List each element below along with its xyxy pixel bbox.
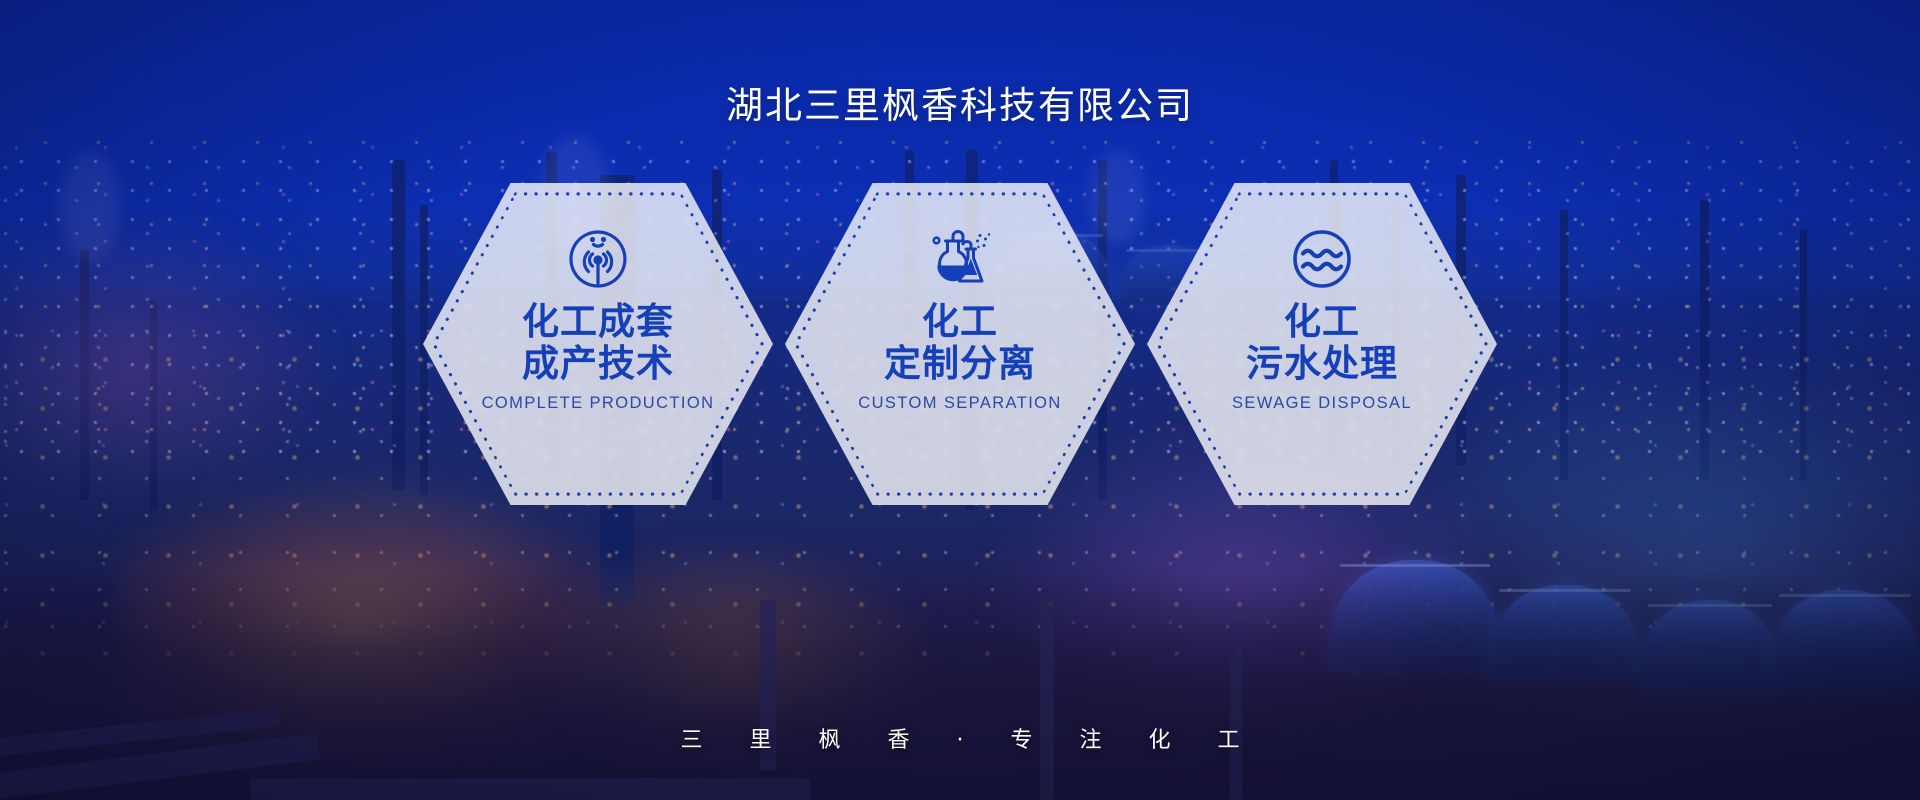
broadcast-signal-icon: [566, 227, 630, 291]
service-card-sewage-disposal[interactable]: 化工 污水处理 SEWAGE DISPOSAL: [1147, 183, 1497, 505]
service-card-custom-separation[interactable]: 化工 定制分离 CUSTOM SEPARATION: [785, 183, 1135, 505]
banner-stage: 湖北三里枫香科技有限公司: [0, 0, 1920, 800]
service-card-complete-production[interactable]: 化工成套 成产技术 COMPLETE PRODUCTION: [423, 183, 773, 505]
card-subtitle-en: COMPLETE PRODUCTION: [482, 394, 715, 413]
card-body: 化工 定制分离 CUSTOM SEPARATION: [785, 183, 1135, 505]
service-card-list: 化工成套 成产技术 COMPLETE PRODUCTION: [0, 183, 1920, 505]
card-body: 化工成套 成产技术 COMPLETE PRODUCTION: [423, 183, 773, 505]
card-title-line1: 化工: [884, 301, 1036, 343]
card-title-line1: 化工成套: [522, 301, 674, 343]
card-body: 化工 污水处理 SEWAGE DISPOSAL: [1147, 183, 1497, 505]
brand-tagline: 三 里 枫 香 · 专 注 化 工: [0, 722, 1920, 754]
card-title-line2: 成产技术: [522, 343, 674, 385]
card-title-line2: 污水处理: [1246, 343, 1398, 385]
water-waves-icon: [1290, 227, 1354, 291]
card-title-line2: 定制分离: [884, 343, 1036, 385]
chemistry-flask-icon: [928, 227, 992, 291]
card-title-cn: 化工 污水处理: [1246, 301, 1398, 385]
card-subtitle-en: SEWAGE DISPOSAL: [1232, 394, 1412, 413]
banner-content: 湖北三里枫香科技有限公司: [0, 0, 1920, 800]
card-title-line1: 化工: [1246, 301, 1398, 343]
card-title-cn: 化工成套 成产技术: [522, 301, 674, 385]
card-subtitle-en: CUSTOM SEPARATION: [858, 394, 1062, 413]
company-title: 湖北三里枫香科技有限公司: [0, 75, 1920, 129]
card-title-cn: 化工 定制分离: [884, 301, 1036, 385]
